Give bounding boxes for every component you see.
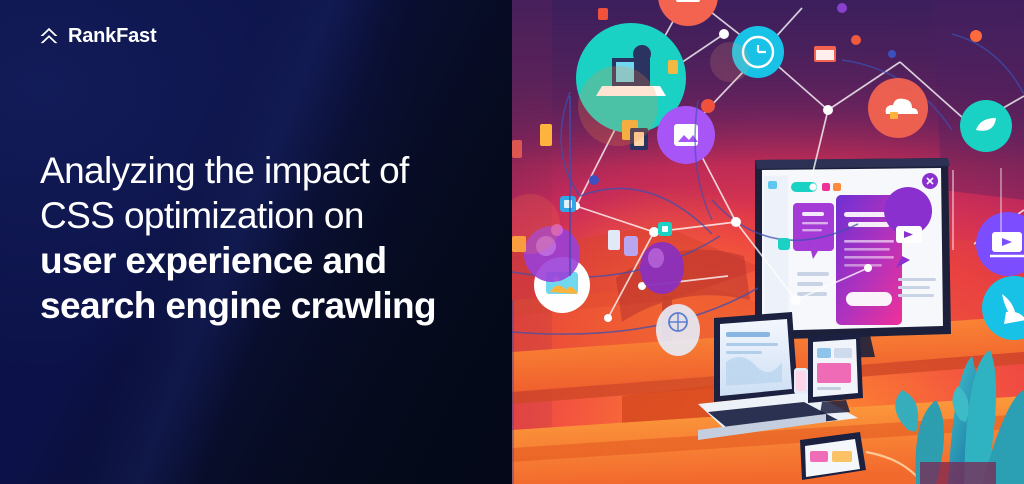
headline-line-1: Analyzing the impact of <box>40 148 490 193</box>
page-title: Analyzing the impact of CSS optimization… <box>40 148 490 328</box>
blog-hero-banner: RankFast Analyzing the impact of CSS opt… <box>0 0 1024 484</box>
headline-line-2: CSS optimization on <box>40 193 490 238</box>
headline-line-4: search engine crawling <box>40 283 490 328</box>
illustration-grain <box>512 0 1024 484</box>
hero-illustration <box>512 0 1024 484</box>
double-chevron-up-icon <box>38 25 60 47</box>
headline-line-3: user experience and <box>40 238 490 283</box>
brand-name: RankFast <box>68 26 156 46</box>
brand-logo[interactable]: RankFast <box>38 25 156 47</box>
left-text-panel: RankFast Analyzing the impact of CSS opt… <box>0 0 512 484</box>
